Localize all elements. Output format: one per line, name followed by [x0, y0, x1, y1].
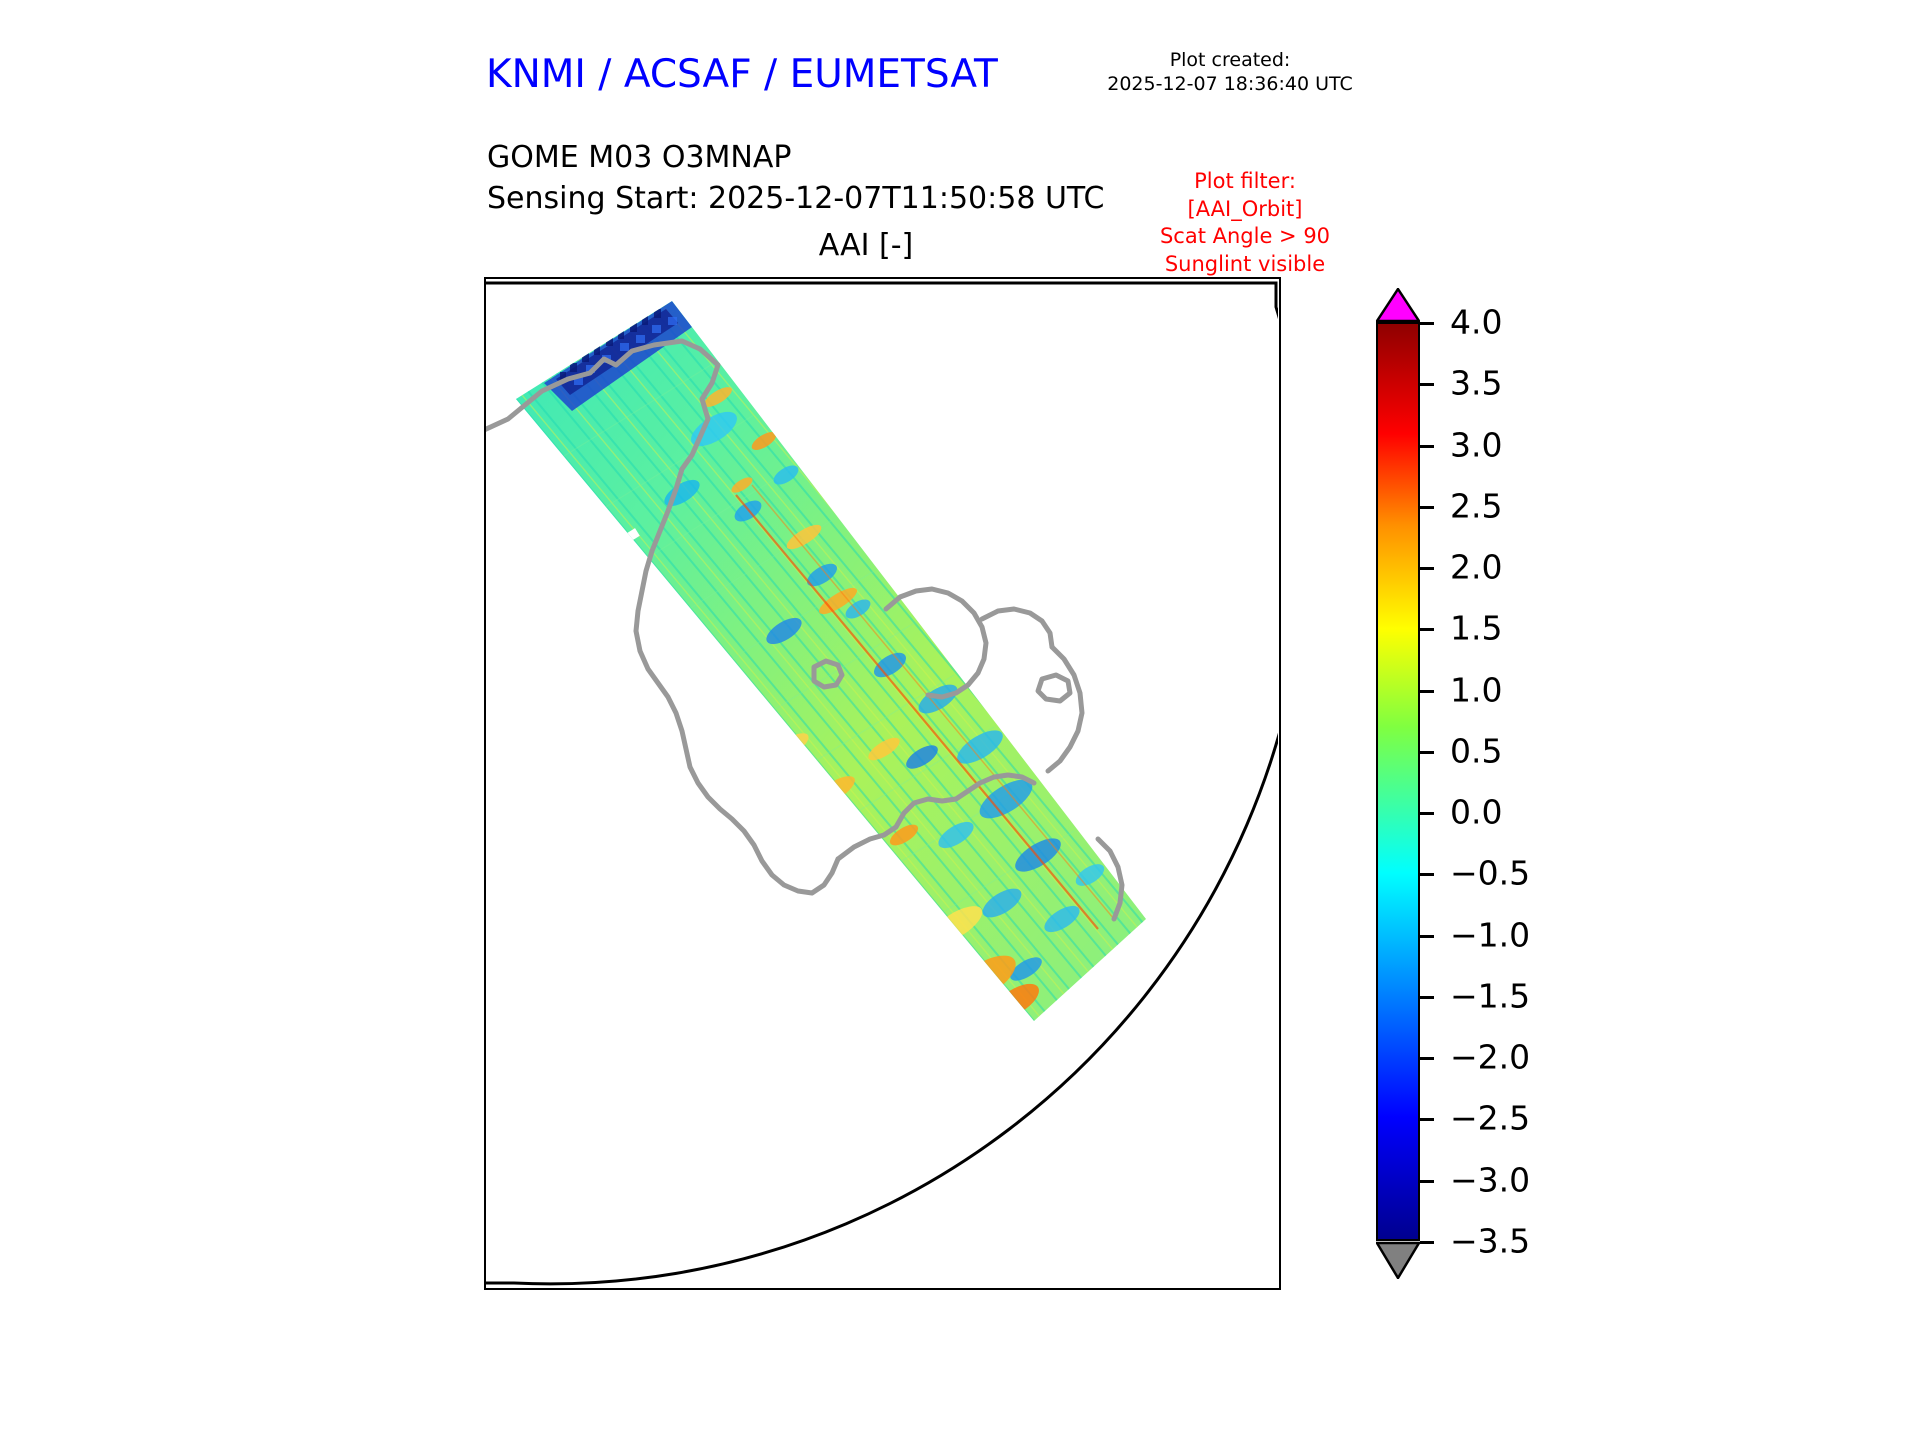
colorbar-tick-mark [1420, 690, 1434, 693]
colorbar-tick-mark [1420, 1118, 1434, 1121]
organisation-title: KNMI / ACSAF / EUMETSAT [486, 52, 998, 97]
colorbar-tick-label: 0.5 [1450, 734, 1502, 767]
colorbar-tick-mark [1420, 1241, 1434, 1244]
plot-filter-annotation: Plot filter: [AAI_Orbit] Scat Angle > 90… [1105, 168, 1385, 279]
plot-created-label: Plot created: [1085, 48, 1375, 72]
colorbar-tick-mark [1420, 1180, 1434, 1183]
colorbar-tick-label: −1.5 [1450, 979, 1530, 1012]
colorbar-tick-label: −2.0 [1450, 1041, 1530, 1074]
colorbar-tick-label: 4.0 [1450, 306, 1502, 339]
colorbar-tick-mark [1420, 628, 1434, 631]
colorbar-tick-mark [1420, 445, 1434, 448]
colorbar-tick-label: 2.0 [1450, 551, 1502, 584]
colorbar-tick-mark [1420, 1057, 1434, 1060]
filter-line: [AAI_Orbit] [1105, 196, 1385, 224]
colorbar-tick-label: 0.0 [1450, 796, 1502, 829]
colorbar-tick-mark [1420, 873, 1434, 876]
colorbar-tick-mark [1420, 751, 1434, 754]
colorbar-tick-mark [1420, 812, 1434, 815]
colorbar-tick-mark [1420, 383, 1434, 386]
colorbar-tick-mark [1420, 322, 1434, 325]
colorbar-tick-mark [1420, 506, 1434, 509]
colorbar-gradient [1376, 322, 1420, 1241]
colorbar-tick-label: 3.0 [1450, 428, 1502, 461]
colorbar-tick-mark [1420, 996, 1434, 999]
colorbar-under-range-arrow [1376, 1241, 1420, 1279]
colorbar-over-range-arrow [1376, 288, 1420, 322]
colorbar-tick-label: −3.0 [1450, 1163, 1530, 1196]
colorbar: 4.03.53.02.52.01.51.00.50.0−0.5−1.0−1.5−… [1366, 288, 1596, 1308]
product-title: GOME M03 O3MNAP [487, 140, 791, 175]
colorbar-tick-label: −3.5 [1450, 1225, 1530, 1258]
colorbar-tick-label: 3.5 [1450, 367, 1502, 400]
filter-line: Plot filter: [1105, 168, 1385, 196]
colorbar-tick-label: 1.5 [1450, 612, 1502, 645]
colorbar-tick-label: −1.0 [1450, 918, 1530, 951]
plot-created-value: 2025-12-07 18:36:40 UTC [1085, 72, 1375, 96]
filter-line: Sunglint visible [1105, 251, 1385, 279]
colorbar-tick-label: −2.5 [1450, 1102, 1530, 1135]
filter-line: Scat Angle > 90 [1105, 223, 1385, 251]
colorbar-tick-mark [1420, 935, 1434, 938]
plot-created-block: Plot created: 2025-12-07 18:36:40 UTC [1085, 48, 1375, 97]
aai-swath [486, 279, 1278, 1287]
colorbar-tick-label: 1.0 [1450, 673, 1502, 706]
colorbar-tick-label: −0.5 [1450, 857, 1530, 890]
map-canvas [486, 279, 1278, 1287]
plot-page: KNMI / ACSAF / EUMETSAT Plot created: 20… [0, 0, 1920, 1440]
sensing-start-title: Sensing Start: 2025-12-07T11:50:58 UTC [487, 181, 1104, 216]
colorbar-tick-label: 2.5 [1450, 489, 1502, 522]
map-panel [484, 277, 1281, 1290]
colorbar-tick-mark [1420, 567, 1434, 570]
